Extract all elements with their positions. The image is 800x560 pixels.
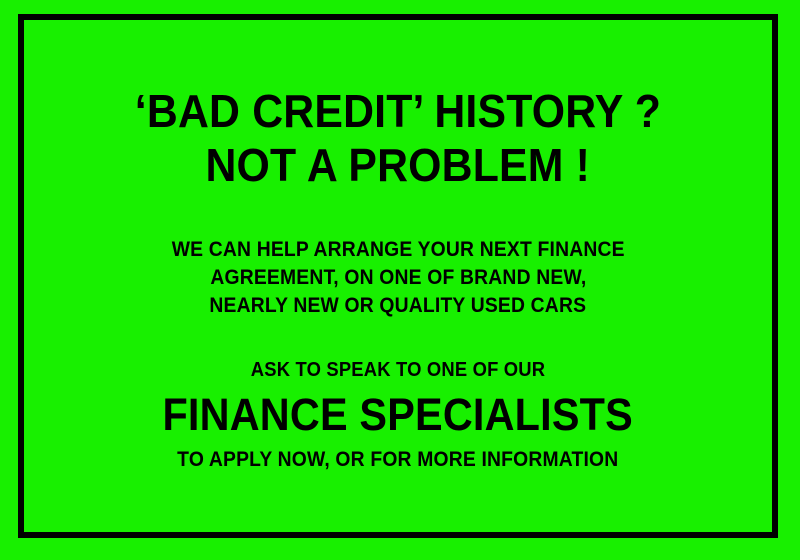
poster-content: ‘BAD CREDIT’ HISTORY ? NOT A PROBLEM ! W… xyxy=(24,20,772,532)
headline-line-1: ‘BAD CREDIT’ HISTORY ? xyxy=(135,84,661,138)
body-paragraph: WE CAN HELP ARRANGE YOUR NEXT FINANCE AG… xyxy=(152,236,644,320)
cta-emphasis-text: FINANCE SPECIALISTS xyxy=(163,388,633,442)
cta-footer-text: TO APPLY NOW, OR FOR MORE INFORMATION xyxy=(177,446,618,474)
headline-line-2: NOT A PROBLEM ! xyxy=(206,138,591,192)
body-line-2: AGREEMENT, ON ONE OF BRAND NEW, xyxy=(210,264,586,292)
cta-lead-in-text: ASK TO SPEAK TO ONE OF OUR xyxy=(251,356,545,384)
call-to-action-block: ASK TO SPEAK TO ONE OF OUR FINANCE SPECI… xyxy=(142,356,653,474)
body-line-1: WE CAN HELP ARRANGE YOUR NEXT FINANCE xyxy=(171,236,624,264)
body-line-3: NEARLY NEW OR QUALITY USED CARS xyxy=(210,292,587,320)
poster-canvas: ‘BAD CREDIT’ HISTORY ? NOT A PROBLEM ! W… xyxy=(0,0,800,560)
headline-block: ‘BAD CREDIT’ HISTORY ? NOT A PROBLEM ! xyxy=(115,84,681,192)
